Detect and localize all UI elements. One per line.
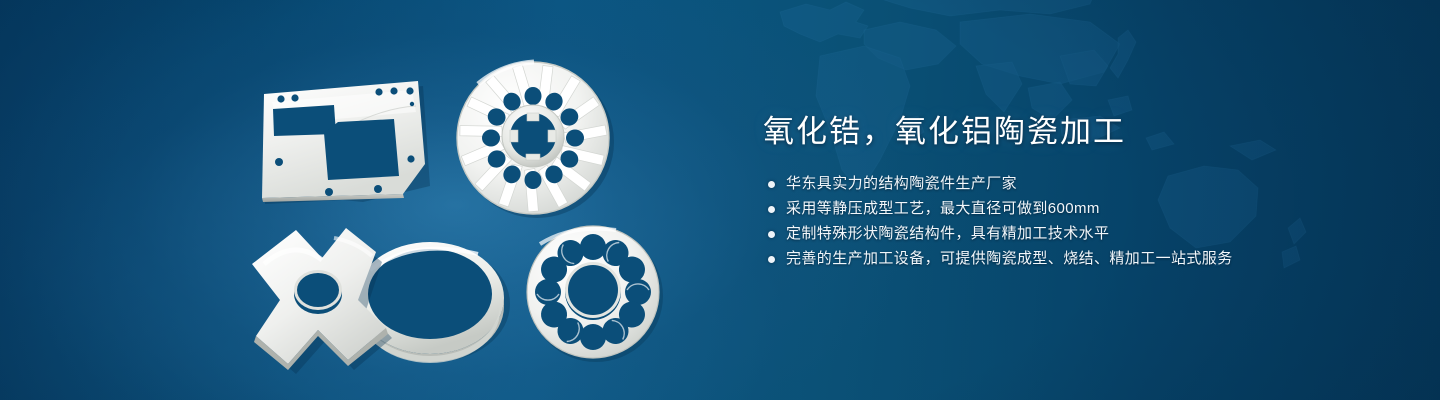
feature-list: 华东具实力的结构陶瓷件生产厂家 采用等静压成型工艺，最大直径可做到600mm 定… <box>763 172 1363 271</box>
list-item: 采用等静压成型工艺，最大直径可做到600mm <box>763 197 1363 221</box>
hero-banner: 氧化锆，氧化铝陶瓷加工 华东具实力的结构陶瓷件生产厂家 采用等静压成型工艺，最大… <box>0 0 1440 400</box>
list-item: 定制特殊形状陶瓷结构件，具有精加工技术水平 <box>763 222 1363 246</box>
bullet-dot-icon <box>768 256 775 263</box>
bullet-dot-icon <box>768 206 775 213</box>
ceramic-hole-ring-photo <box>512 216 677 368</box>
feature-text: 采用等静压成型工艺，最大直径可做到600mm <box>786 197 1100 221</box>
feature-text: 定制特殊形状陶瓷结构件，具有精加工技术水平 <box>786 222 1109 246</box>
ceramic-plate-photo <box>248 72 438 212</box>
page-title: 氧化锆，氧化铝陶瓷加工 <box>763 112 1363 152</box>
product-photo-group <box>0 0 740 400</box>
list-item: 华东具实力的结构陶瓷件生产厂家 <box>763 172 1363 196</box>
bullet-dot-icon <box>768 231 775 238</box>
ceramic-cross-and-ring-photo <box>238 212 528 387</box>
ceramic-impeller-photo <box>440 42 630 232</box>
feature-text: 完善的生产加工设备，可提供陶瓷成型、烧结、精加工一站式服务 <box>786 247 1233 271</box>
feature-text: 华东具实力的结构陶瓷件生产厂家 <box>786 172 1017 196</box>
list-item: 完善的生产加工设备，可提供陶瓷成型、烧结、精加工一站式服务 <box>763 247 1363 271</box>
banner-copy: 氧化锆，氧化铝陶瓷加工 华东具实力的结构陶瓷件生产厂家 采用等静压成型工艺，最大… <box>763 112 1363 287</box>
bullet-dot-icon <box>768 181 775 188</box>
